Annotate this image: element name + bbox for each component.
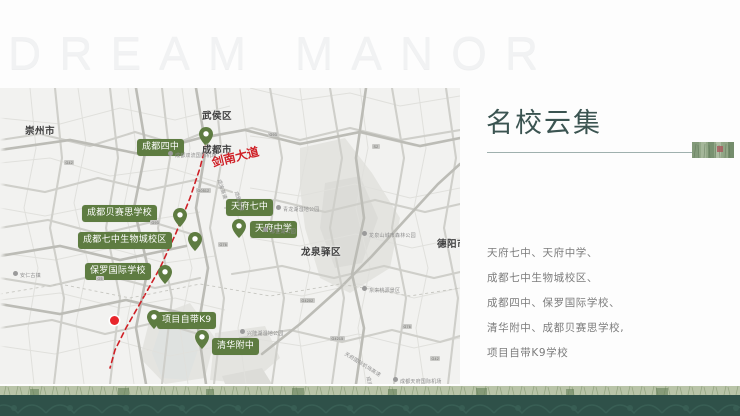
map-school-label[interactable]: 成都七中生物城校区 bbox=[78, 232, 172, 249]
map-poi-dot-icon bbox=[13, 271, 18, 276]
school-list-line: 清华附中、成都贝赛思学校, bbox=[487, 320, 624, 335]
map-road-shield: S2 bbox=[372, 144, 380, 149]
project-location-marker[interactable] bbox=[110, 316, 119, 325]
map-road-shield: G0512 bbox=[196, 188, 211, 193]
school-list-line: 成都七中生物城校区、 bbox=[487, 270, 624, 285]
map-pin-icon[interactable] bbox=[195, 330, 209, 349]
map-road-shield: G93 bbox=[150, 220, 160, 225]
map-road-shield: G4202 bbox=[300, 298, 315, 303]
map-road-shield: G42 bbox=[430, 356, 440, 361]
map-pin-icon[interactable] bbox=[147, 310, 161, 329]
map-poi-label: 兴隆湖湿地公园 bbox=[247, 330, 283, 337]
map-poi-dot-icon bbox=[276, 205, 281, 210]
map-poi-dot-icon bbox=[362, 286, 367, 291]
map-poi-label: 成都天府国际机场 bbox=[400, 378, 442, 384]
map-pin-icon[interactable] bbox=[158, 265, 172, 284]
map-poi-label: 龙泉山城市森林公园 bbox=[369, 232, 416, 239]
map-school-label[interactable]: 天府七中 bbox=[226, 199, 273, 216]
title-divider bbox=[487, 152, 692, 153]
slide-root: DREAM MANOR bbox=[0, 0, 740, 416]
footer-decorative-strip bbox=[0, 386, 740, 416]
grass-texture bbox=[0, 386, 740, 395]
map-container[interactable]: 成都四中成都贝赛思学校成都七中生物城校区保罗国际学校天府七中天府中学项目自带K9… bbox=[0, 88, 460, 384]
decorative-foliage-block bbox=[692, 142, 734, 158]
map-school-label[interactable]: 清华附中 bbox=[212, 338, 259, 355]
map-school-label[interactable]: 保罗国际学校 bbox=[85, 263, 151, 280]
page-title: 名校云集 bbox=[486, 101, 602, 140]
ornament-pattern bbox=[0, 395, 740, 416]
map-road-shield: G5 bbox=[96, 276, 104, 281]
map-poi-label: 安仁古镇 bbox=[20, 272, 41, 279]
map-poi-dot-icon bbox=[168, 151, 173, 156]
map-poi-label: 青龙湖湿地公园 bbox=[283, 206, 319, 213]
map-poi-dot-icon bbox=[240, 329, 245, 334]
map-poi-dot-icon bbox=[393, 377, 398, 382]
map-pin-icon[interactable] bbox=[232, 219, 246, 238]
map-poi-label: 成都双流国际机场 bbox=[175, 152, 217, 159]
school-list-line: 成都四中、保罗国际学校、 bbox=[487, 295, 624, 310]
map-poi-dot-icon bbox=[362, 231, 367, 236]
watermark-text: DREAM MANOR bbox=[8, 26, 556, 80]
map-city-label: 崇州市 bbox=[25, 123, 55, 137]
map-pin-icon[interactable] bbox=[173, 208, 187, 227]
map-city-label: 龙泉驿区 bbox=[301, 244, 341, 258]
school-list: 天府七中、天府中学、成都七中生物城校区、成都四中、保罗国际学校、清华附中、成都贝… bbox=[487, 245, 624, 370]
map-road-shield: G93 bbox=[268, 132, 278, 137]
map-road-shield: G76 bbox=[402, 324, 412, 329]
map-city-label: 德阳市 bbox=[437, 236, 460, 250]
map-school-label[interactable]: 项目自带K9 bbox=[157, 312, 216, 329]
school-list-line: 项目自带K9学校 bbox=[487, 345, 624, 360]
map-poi-label: 东来桃源景区 bbox=[369, 287, 400, 294]
map-road-shield: G76 bbox=[218, 242, 228, 247]
map-pin-icon[interactable] bbox=[188, 232, 202, 251]
map-poi-label: 郁金湖公园 bbox=[270, 228, 296, 235]
map-poi-dot-icon bbox=[263, 227, 268, 232]
school-list-line: 天府七中、天府中学、 bbox=[487, 245, 624, 260]
map-city-label: 武侯区 bbox=[202, 108, 232, 122]
map-road-shield: G4215 bbox=[330, 336, 345, 341]
map-road-shield: G42 bbox=[64, 160, 74, 165]
map-school-label[interactable]: 成都贝赛思学校 bbox=[82, 205, 157, 222]
